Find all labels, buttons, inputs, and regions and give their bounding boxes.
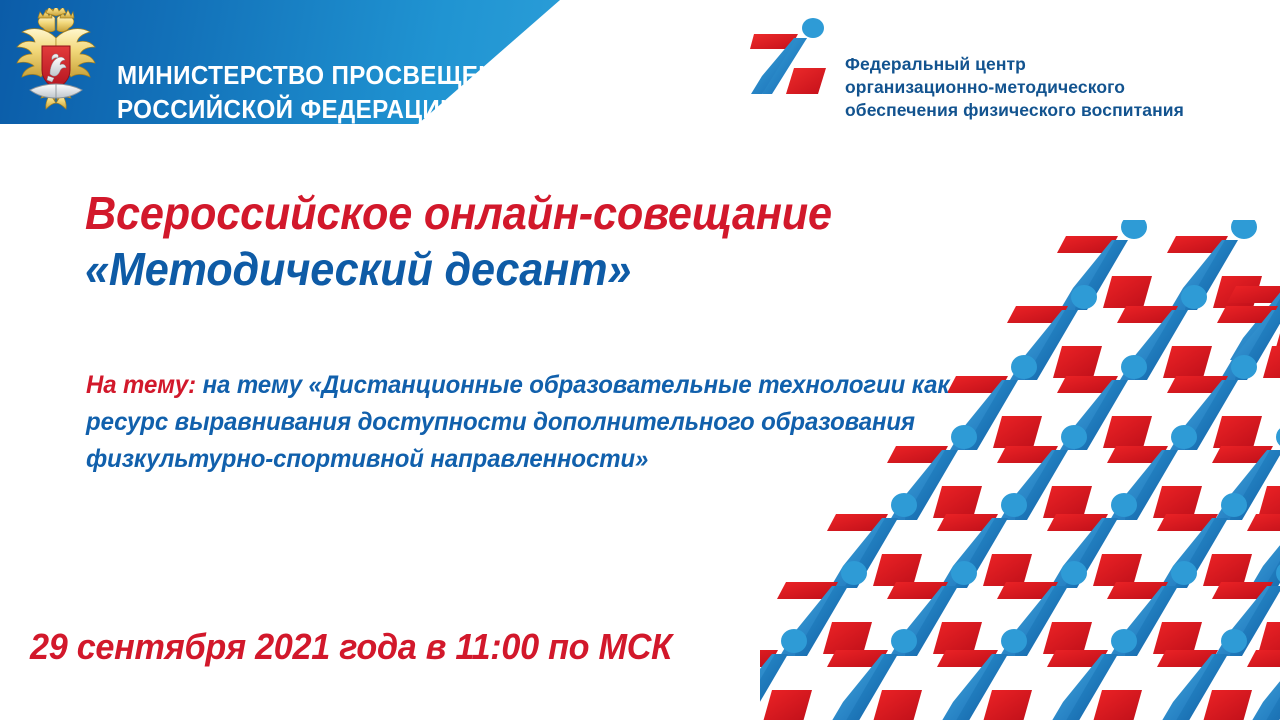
federal-center-line2: организационно-методического [845, 77, 1125, 97]
slide-canvas: МИНИСТЕРСТВО ПРОСВЕЩЕНИЯ РОССИЙСКОЙ ФЕДЕ… [0, 0, 1280, 720]
event-datetime: 29 сентября 2021 года в 11:00 по МСК [30, 625, 672, 669]
ministry-title-line1: МИНИСТЕРСТВО ПРОСВЕЩЕНИЯ [117, 60, 532, 90]
subject-lead: На тему: [86, 371, 196, 399]
subject-text: На тему: на тему «Дистанционные образова… [86, 367, 1032, 478]
running-figure-logo-icon [750, 16, 834, 102]
page-title-line2: «Методический десант» [85, 241, 987, 297]
ministry-title-line2: РОССИЙСКОЙ ФЕДЕРАЦИИ [117, 92, 532, 126]
federal-center-line3: обеспечения физического воспитания [845, 100, 1184, 120]
subject-body: на тему «Дистанционные образовательные т… [86, 371, 949, 473]
header: МИНИСТЕРСТВО ПРОСВЕЩЕНИЯ РОССИЙСКОЙ ФЕДЕ… [0, 0, 1280, 124]
ministry-title: МИНИСТЕРСТВО ПРОСВЕЩЕНИЯ РОССИЙСКОЙ ФЕДЕ… [117, 24, 532, 160]
page-title-line1: Всероссийское онлайн-совещание [85, 185, 987, 241]
federal-center-line1: Федеральный центр [845, 54, 1026, 74]
page-title: Всероссийское онлайн-совещание «Методиче… [85, 185, 987, 297]
federal-center-title: Федеральный центр организационно-методич… [845, 30, 1184, 122]
russian-coat-of-arms-icon [10, 8, 102, 116]
